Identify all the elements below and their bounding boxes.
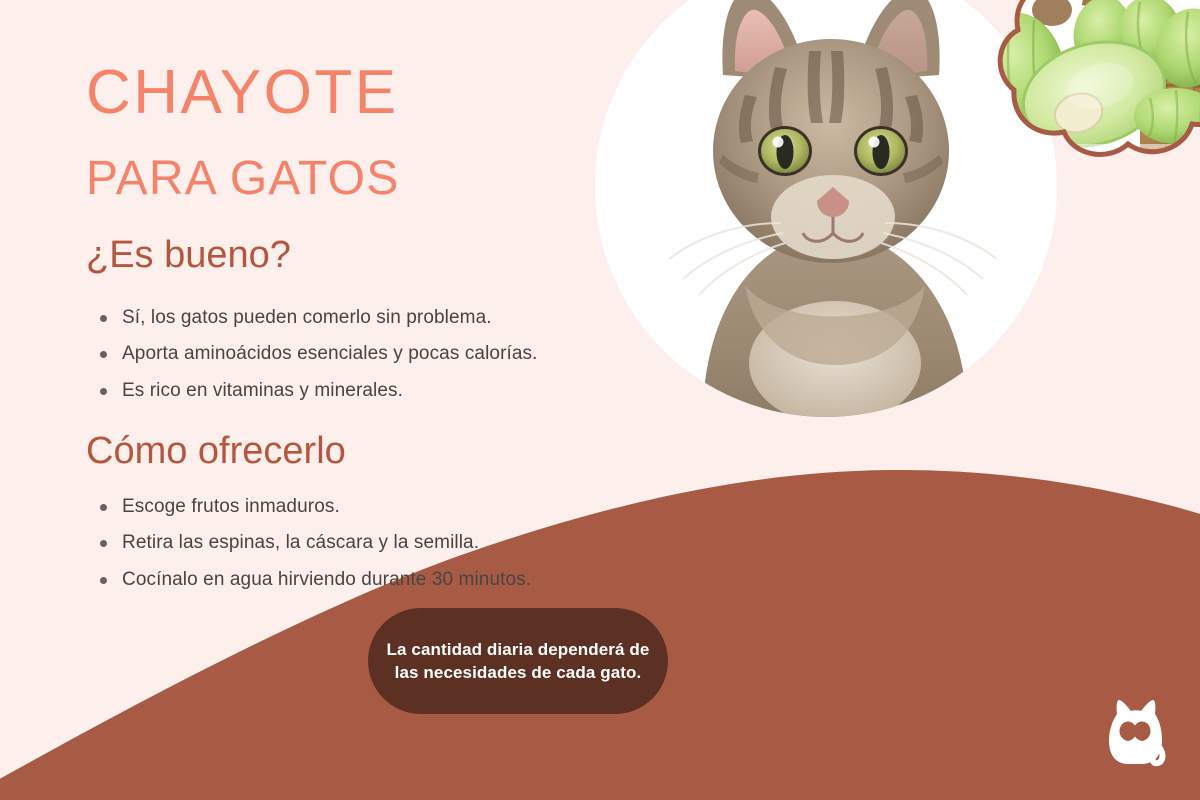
page-subtitle: PARA GATOS <box>86 155 399 203</box>
list-item-label: Es rico en vitaminas y minerales. <box>122 379 403 403</box>
cat-portrait-illustration <box>595 0 1057 417</box>
list-item: Cocínalo en agua hirviendo durante 30 mi… <box>92 568 612 592</box>
callout-box: La cantidad diaria dependerá de las nece… <box>368 608 668 714</box>
list-item: Aporta aminoácidos esenciales y pocas ca… <box>92 342 612 366</box>
list-item-label: Retira las espinas, la cáscara y la semi… <box>122 531 479 555</box>
list-item: Retira las espinas, la cáscara y la semi… <box>92 531 612 555</box>
infographic-canvas: CHAYOTE PARA GATOS ¿Es bueno? Sí, los ga… <box>0 0 1200 800</box>
list-item: Escoge frutos inmaduros. <box>92 495 612 519</box>
callout-text: La cantidad diaria dependerá de las nece… <box>368 638 668 685</box>
white-cat-silhouette-icon <box>1104 698 1166 770</box>
bullet-dot-icon <box>100 577 107 584</box>
bullet-dot-icon <box>100 388 107 395</box>
list-item-label: Aporta aminoácidos esenciales y pocas ca… <box>122 342 538 366</box>
list-item-label: Escoge frutos inmaduros. <box>122 495 340 519</box>
chayote-badge <box>990 0 1200 200</box>
section-heading-es-bueno: ¿Es bueno? <box>86 236 291 274</box>
cat-logo <box>1104 698 1166 770</box>
list-item: Es rico en vitaminas y minerales. <box>92 379 612 403</box>
bullet-dot-icon <box>100 540 107 547</box>
list-item: Sí, los gatos pueden comerlo sin problem… <box>92 306 612 330</box>
list-item-label: Cocínalo en agua hirviendo durante 30 mi… <box>122 568 531 592</box>
bullet-dot-icon <box>100 351 107 358</box>
bullet-list-preparation: Escoge frutos inmaduros. Retira las espi… <box>92 495 612 604</box>
bullet-list-benefits: Sí, los gatos pueden comerlo sin problem… <box>92 306 612 415</box>
section-heading-como-ofrecerlo: Cómo ofrecerlo <box>86 432 346 470</box>
bullet-dot-icon <box>100 504 107 511</box>
list-item-label: Sí, los gatos pueden comerlo sin problem… <box>122 306 492 330</box>
page-title: CHAYOTE <box>86 62 399 124</box>
cat-photo-circle <box>595 0 1057 417</box>
bullet-dot-icon <box>100 315 107 322</box>
chayote-badge-illustration <box>990 0 1200 200</box>
